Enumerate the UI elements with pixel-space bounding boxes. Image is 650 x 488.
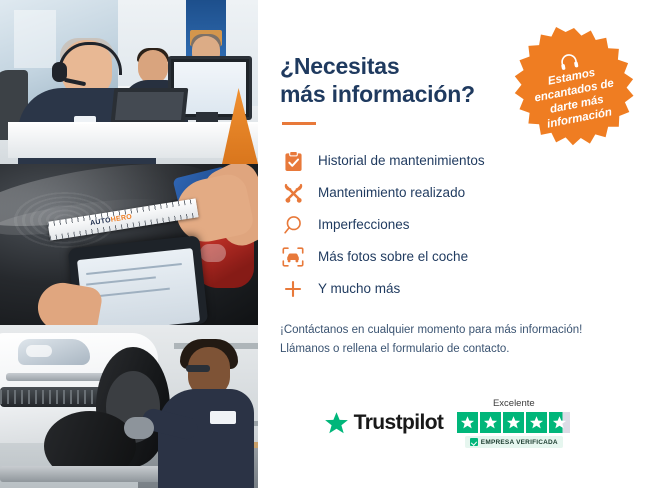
clipboard-check-icon bbox=[280, 148, 306, 174]
star-3 bbox=[503, 412, 524, 433]
magnifier-icon bbox=[280, 212, 306, 238]
blurb-line-1: ¡Contáctanos en cualquier momento para m… bbox=[280, 324, 582, 336]
feature-item-fotos: Más fotos sobre el coche bbox=[280, 241, 628, 273]
office-desk bbox=[8, 122, 258, 158]
feature-list: Historial de mantenimientos M bbox=[280, 145, 628, 305]
blurb-line-2: Llámanos o rellena el formulario de cont… bbox=[280, 343, 510, 355]
crossed-tools-icon bbox=[280, 180, 306, 206]
headline-line-1: ¿Necesitas bbox=[280, 53, 399, 79]
photo-column: AUTOHERO bbox=[0, 0, 258, 488]
support-badge: Estamos encantados de darte más informac… bbox=[510, 26, 638, 154]
content-panel: ¿Necesitas más información? Estamos enca… bbox=[258, 0, 650, 488]
star-1 bbox=[457, 412, 478, 433]
information-promo-poster: AUTOHERO bbox=[0, 0, 650, 488]
status-badge: EMPRESA VERIFICADA bbox=[465, 436, 563, 448]
car-headlight bbox=[18, 339, 90, 365]
trustpilot-logo[interactable]: Trustpilot bbox=[324, 411, 444, 436]
feature-item-mantenimiento: Mantenimiento realizado bbox=[280, 177, 628, 209]
call-center-agents-photo bbox=[0, 0, 258, 164]
trustpilot-rating: Excelente bbox=[457, 398, 570, 448]
check-square-icon bbox=[470, 438, 478, 446]
car-trim-bar bbox=[6, 373, 114, 381]
star-rating bbox=[457, 412, 570, 433]
verified-label: EMPRESA VERIFICADA bbox=[481, 439, 558, 446]
trustpilot-widget[interactable]: Trustpilot Excelente bbox=[258, 398, 650, 448]
plus-icon bbox=[280, 276, 306, 302]
mechanic bbox=[158, 339, 254, 488]
star-2 bbox=[480, 412, 501, 433]
feature-label: Imperfecciones bbox=[318, 218, 410, 233]
trustpilot-star-icon bbox=[324, 411, 349, 436]
badge-content: Estamos encantados de darte más informac… bbox=[499, 15, 649, 165]
feature-label: Mantenimiento realizado bbox=[318, 186, 465, 201]
badge-text: Estamos encantados de darte más informac… bbox=[523, 63, 628, 135]
page-title: ¿Necesitas más información? bbox=[280, 52, 510, 108]
feature-label: Más fotos sobre el coche bbox=[318, 250, 468, 265]
mechanic-wheel-photo bbox=[0, 325, 258, 488]
car-photo-frame-icon bbox=[280, 244, 306, 270]
contact-blurb: ¡Contáctanos en cualquier momento para m… bbox=[280, 321, 628, 358]
star-5-partial bbox=[549, 412, 570, 433]
feature-item-imperfecciones: Imperfecciones bbox=[280, 209, 628, 241]
title-divider bbox=[282, 122, 316, 125]
car-lift-ramp bbox=[0, 466, 172, 482]
trustpilot-wordmark: Trustpilot bbox=[354, 411, 444, 435]
headline-line-2: más información? bbox=[280, 81, 475, 107]
rating-label: Excelente bbox=[493, 398, 535, 409]
star-4 bbox=[526, 412, 547, 433]
feature-item-mas: Y mucho más bbox=[280, 273, 628, 305]
feature-label: Y mucho más bbox=[318, 282, 400, 297]
car-inspection-ruler-photo: AUTOHERO bbox=[0, 164, 258, 325]
feature-label: Historial de mantenimientos bbox=[318, 154, 485, 169]
